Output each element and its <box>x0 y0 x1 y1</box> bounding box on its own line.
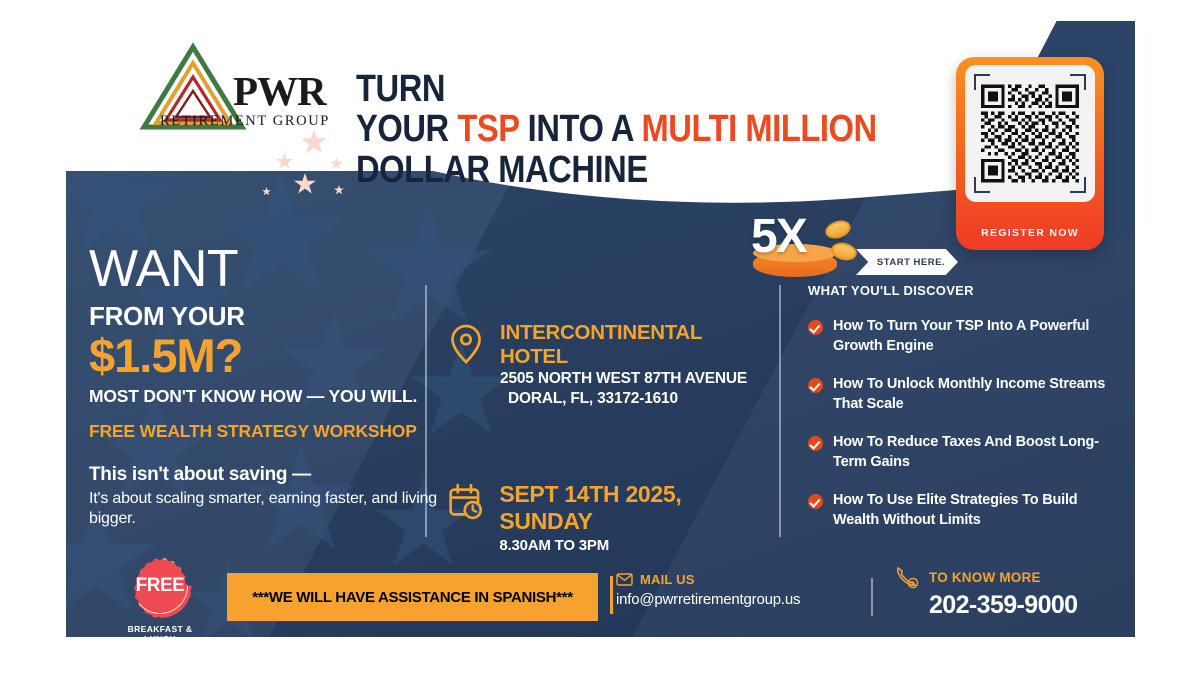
workshop-label: FREE WEALTH STRATEGY WORKSHOP <box>89 421 439 442</box>
most-dont-know-line: MOST DON'T KNOW HOW — YOU WILL. <box>89 386 439 407</box>
discover-item-text: How To Unlock Monthly Income Streams Tha… <box>833 375 1108 414</box>
qr-code-icon[interactable] <box>981 81 1079 186</box>
accent-bar <box>610 576 613 614</box>
free-meals-badge: FREE BREAKFAST & LUNCH <box>118 554 202 637</box>
brand-logo: PWR RETIREMENT GROUP <box>138 41 338 146</box>
list-item: How To Turn Your TSP Into A Powerful Gro… <box>808 317 1108 356</box>
list-item: How To Use Elite Strategies To Build Wea… <box>808 491 1108 530</box>
want-heading: WANT <box>89 243 439 295</box>
envelope-icon <box>616 573 633 586</box>
multiplier-badge: 5X <box>751 211 866 283</box>
discover-item-text: How To Reduce Taxes And Boost Long-Term … <box>833 433 1108 472</box>
calendar-clock-icon <box>448 481 483 523</box>
tagline-body: It's about scaling smarter, earning fast… <box>89 489 439 529</box>
discover-item-text: How To Use Elite Strategies To Build Wea… <box>833 491 1108 530</box>
mail-address[interactable]: info@pwrretirementgroup.us <box>616 591 836 608</box>
location-pin-icon <box>448 321 484 367</box>
headline-tsp: TSP <box>457 108 519 150</box>
register-qr-panel[interactable]: REGISTER NOW <box>956 57 1104 250</box>
discover-title: WHAT YOU'LL DISCOVER <box>808 283 1108 298</box>
venue-address-line-2: DORAL, FL, 33172-1610 <box>500 389 748 409</box>
list-item: How To Unlock Monthly Income Streams Tha… <box>808 375 1108 414</box>
event-details-column: INTERCONTINENTAL HOTEL 2505 NORTH WEST 8… <box>448 321 748 554</box>
phone-number[interactable]: 202-359-9000 <box>929 591 1124 620</box>
schedule-row: SEPT 14TH 2025, SUNDAY 8.30AM TO 3PM <box>448 481 748 554</box>
column-divider-right <box>779 285 781 537</box>
headline-multi-million: MULTI MILLION <box>641 108 876 150</box>
mail-title: MAIL US <box>640 572 695 587</box>
venue-row: INTERCONTINENTAL HOTEL 2505 NORTH WEST 8… <box>448 321 748 409</box>
poster-canvas: PWR RETIREMENT GROUP TURN YOUR TSP INTO … <box>0 0 1200 680</box>
venue-name: INTERCONTINENTAL HOTEL <box>500 321 748 369</box>
logo-subtitle: RETIREMENT GROUP <box>160 113 330 130</box>
phone-whatsapp-icon <box>894 564 920 590</box>
from-your-label: FROM YOUR <box>89 301 439 332</box>
check-circle-icon <box>808 320 823 335</box>
event-time: 8.30AM TO 3PM <box>499 537 748 554</box>
check-circle-icon <box>808 378 823 393</box>
headline-line-3: DOLLAR MACHINE <box>356 152 889 188</box>
venue-address-line-1: 2505 NORTH WEST 87TH AVENUE <box>500 369 748 389</box>
discover-item-text: How To Turn Your TSP Into A Powerful Gro… <box>833 317 1108 356</box>
phone-title: TO KNOW MORE <box>929 570 1041 585</box>
headline-your: YOUR <box>356 108 457 150</box>
discover-column: WHAT YOU'LL DISCOVER How To Turn Your TS… <box>808 283 1108 531</box>
offer-column: WANT FROM YOUR $1.5M? MOST DON'T KNOW HO… <box>89 243 439 529</box>
headline: TURN YOUR TSP INTO A MULTI MILLION DOLLA… <box>356 71 976 188</box>
event-flyer: PWR RETIREMENT GROUP TURN YOUR TSP INTO … <box>66 21 1135 637</box>
start-here-banner: START HERE. <box>856 249 958 275</box>
mail-contact[interactable]: MAIL US info@pwrretirementgroup.us <box>616 572 836 608</box>
list-item: How To Reduce Taxes And Boost Long-Term … <box>808 433 1108 472</box>
free-label: FREE <box>128 554 192 618</box>
free-meals-caption: BREAKFAST & LUNCH <box>118 624 202 637</box>
check-circle-icon <box>808 436 823 451</box>
phone-contact[interactable]: TO KNOW MORE 202-359-9000 <box>894 564 1124 620</box>
headline-line-2: YOUR TSP INTO A MULTI MILLION <box>356 111 889 147</box>
check-circle-icon <box>808 494 823 509</box>
qr-card <box>965 65 1095 202</box>
footer-divider <box>871 578 873 616</box>
headline-into-a: INTO A <box>519 108 641 150</box>
spanish-assistance-banner: ***WE WILL HAVE ASSISTANCE IN SPANISH*** <box>227 573 598 621</box>
starburst-icon: FREE <box>128 554 192 618</box>
multiplier-value: 5X <box>751 209 806 264</box>
tagline-bold: This isn't about saving — <box>89 464 439 486</box>
event-date: SEPT 14TH 2025, SUNDAY <box>499 481 748 535</box>
headline-line-1: TURN <box>356 71 889 107</box>
target-amount: $1.5M? <box>89 332 439 380</box>
gold-coins-icon <box>823 217 853 241</box>
register-now-label[interactable]: REGISTER NOW <box>956 227 1104 239</box>
logo-wordmark: PWR <box>233 67 326 115</box>
